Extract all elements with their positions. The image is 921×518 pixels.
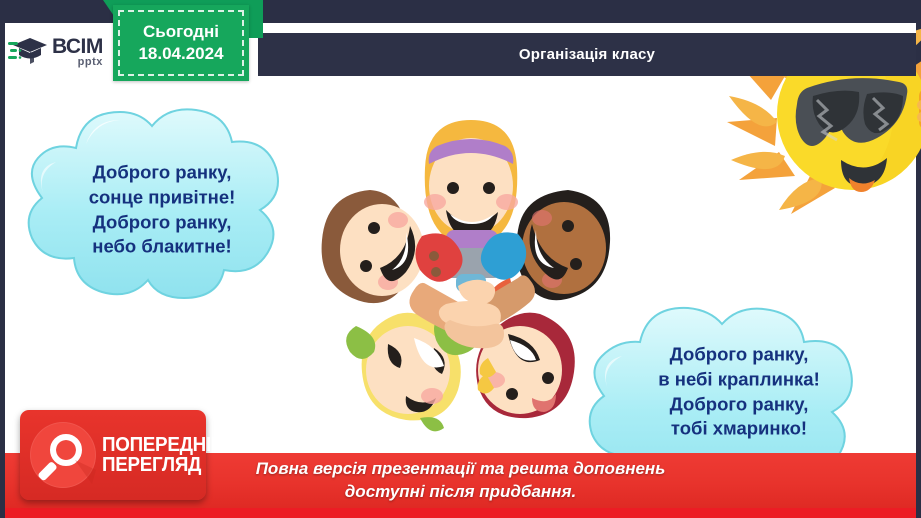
- cloud-left-text: Доброго ранку, сонце привітне! Доброго р…: [14, 160, 310, 259]
- presentation-slide: Доброго ранку, сонце привітне! Доброго р…: [0, 0, 921, 518]
- date-badge-value: 18.04.2024: [138, 44, 223, 64]
- date-badge-label: Сьогодні: [143, 22, 219, 42]
- magnifier-icon: [30, 422, 96, 488]
- graduation-cap-icon: [8, 35, 48, 69]
- logo-suffix: pptx: [52, 57, 103, 67]
- cloud-left-line-2: сонце привітне!: [42, 185, 282, 210]
- cloud-left-line-3: Доброго ранку,: [42, 210, 282, 235]
- speech-cloud-left: Доброго ранку, сонце привітне! Доброго р…: [14, 104, 310, 316]
- purchase-notice-line-2: доступні після придбання.: [345, 481, 576, 504]
- preview-badge-line-2: ПЕРЕГЛЯД: [102, 455, 224, 475]
- cloud-right-line-2: в небі краплинка!: [600, 367, 878, 392]
- cloud-right-line-3: Доброго ранку,: [600, 392, 878, 417]
- purchase-notice-line-1: Повна версія презентації та решта доповн…: [256, 458, 666, 481]
- cloud-right-line-1: Доброго ранку,: [600, 342, 878, 367]
- slide-header-bar: Організація класу: [258, 33, 916, 76]
- brand-logo[interactable]: ВСІМ pptx: [8, 30, 120, 74]
- cloud-left-line-4: небо блакитне!: [42, 235, 282, 260]
- bottom-red-strip: [5, 508, 916, 518]
- cloud-left-line-1: Доброго ранку,: [42, 160, 282, 185]
- cloud-right-text: Доброго ранку, в небі краплинка! Доброго…: [574, 342, 904, 441]
- cloud-right-line-4: тобі хмаринко!: [600, 417, 878, 442]
- preview-badge-line-1: ПОПЕРЕДНІЙ: [102, 435, 224, 455]
- date-badge: Сьогодні 18.04.2024: [113, 5, 249, 81]
- page-title: Організація класу: [519, 46, 655, 63]
- preview-badge[interactable]: ПОПЕРЕДНІЙ ПЕРЕГЛЯД: [20, 410, 206, 500]
- logo-name: ВСІМ: [52, 37, 103, 56]
